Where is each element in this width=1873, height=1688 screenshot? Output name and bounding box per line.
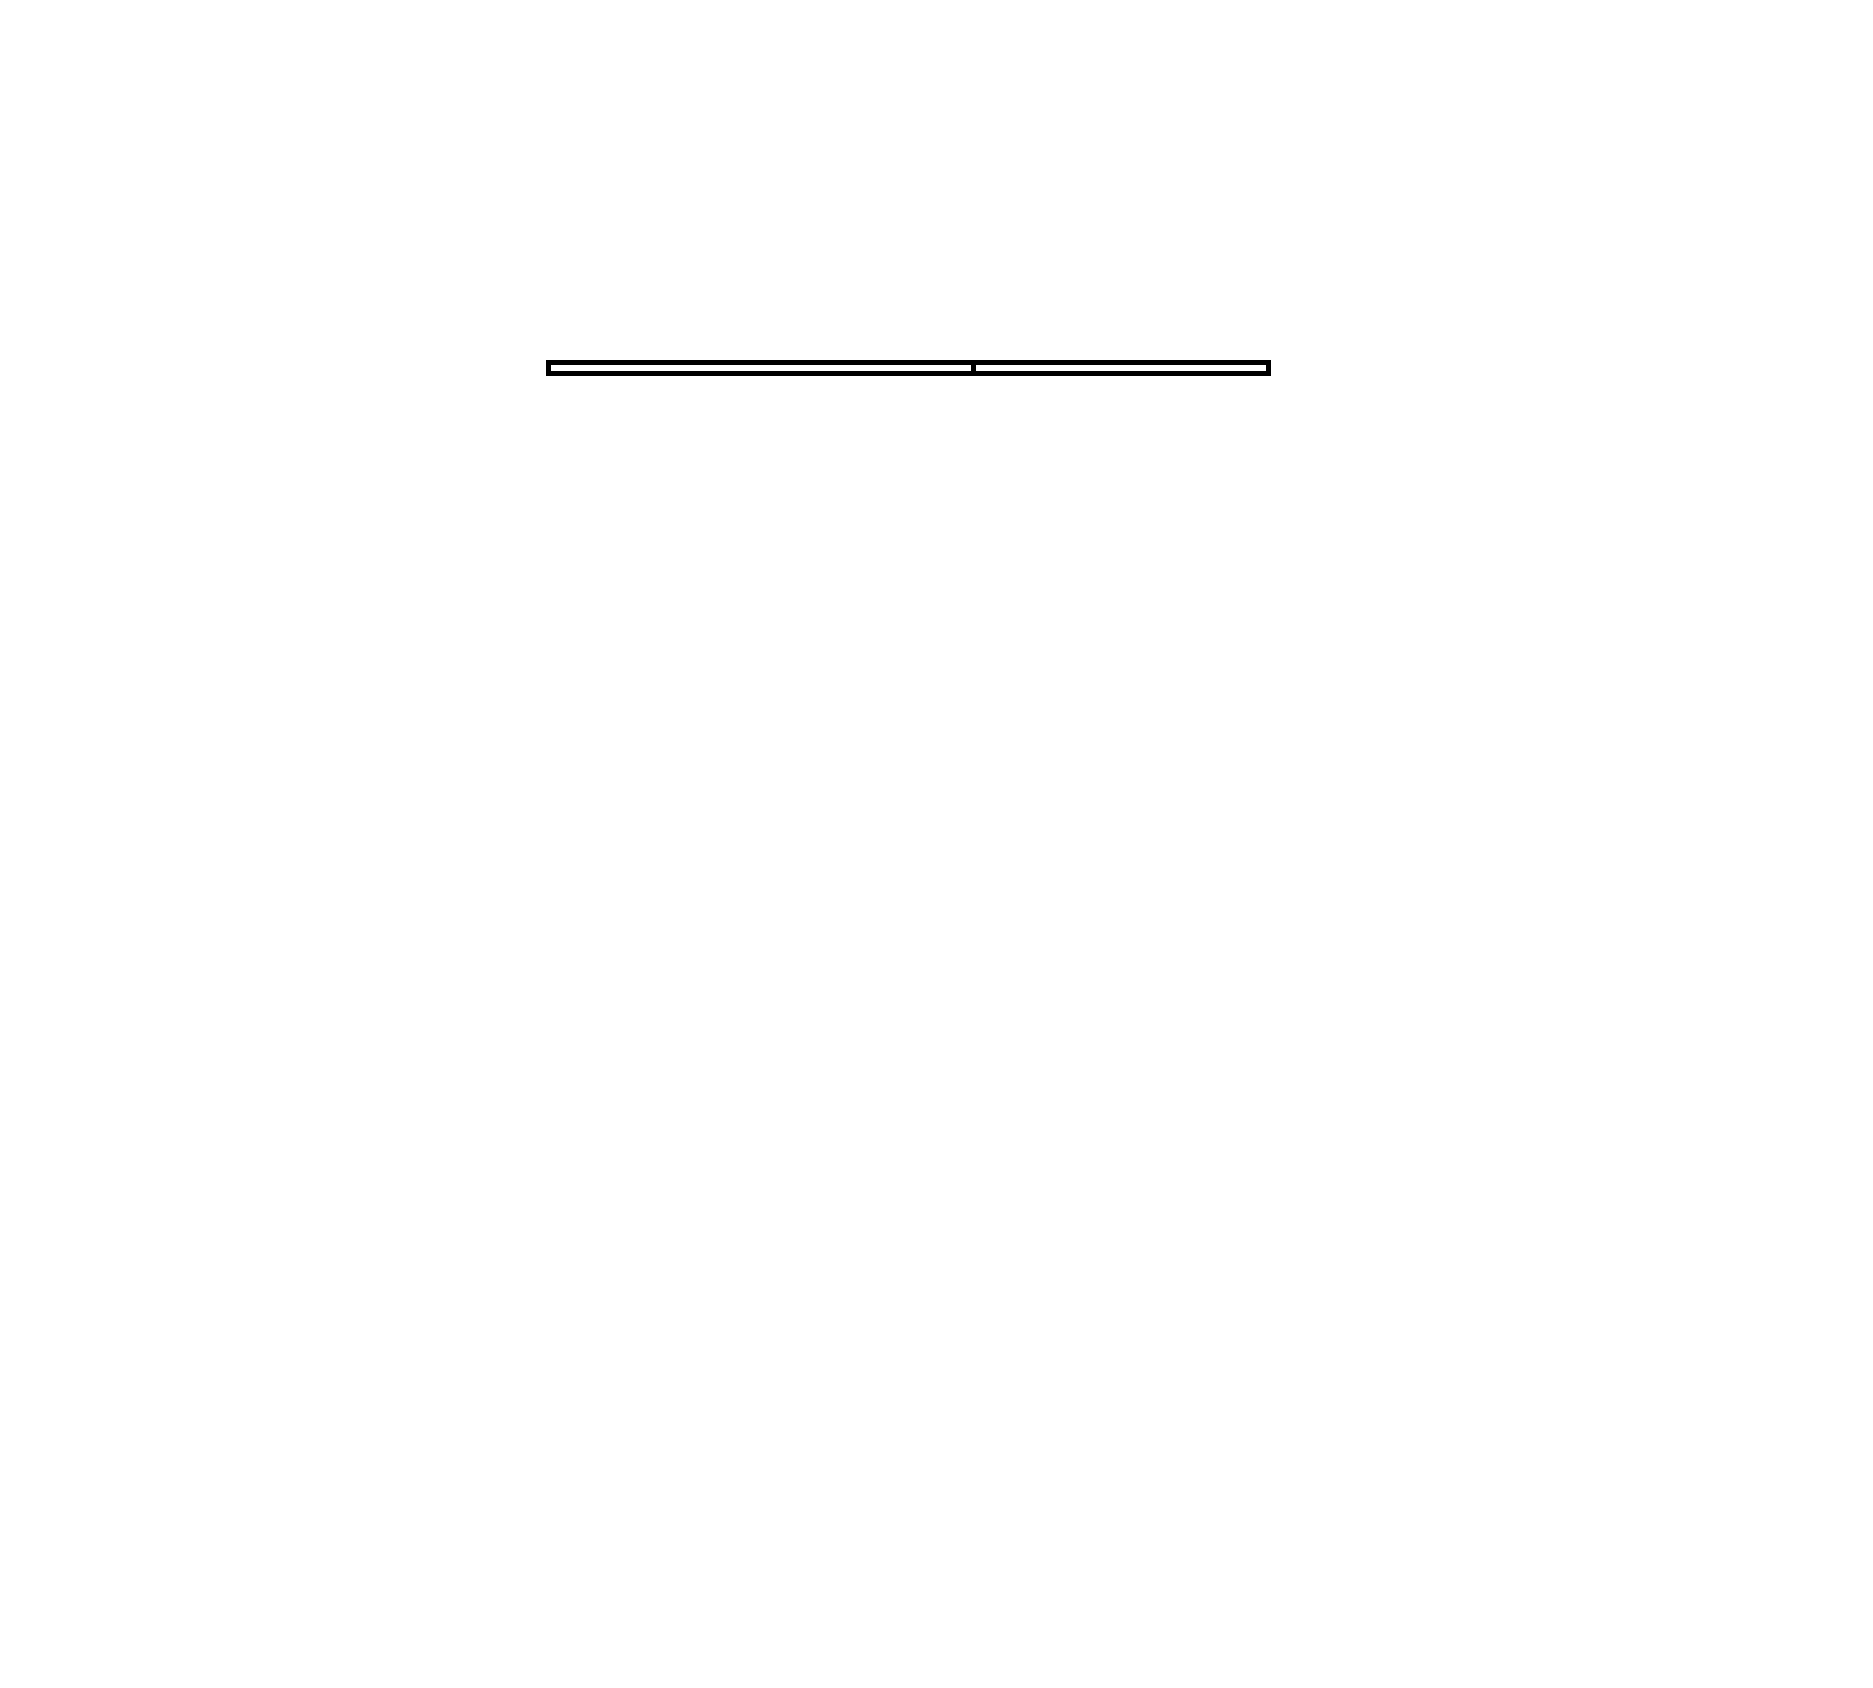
plot-area: [0, 0, 1873, 1688]
chart-figure: [0, 0, 1873, 1688]
